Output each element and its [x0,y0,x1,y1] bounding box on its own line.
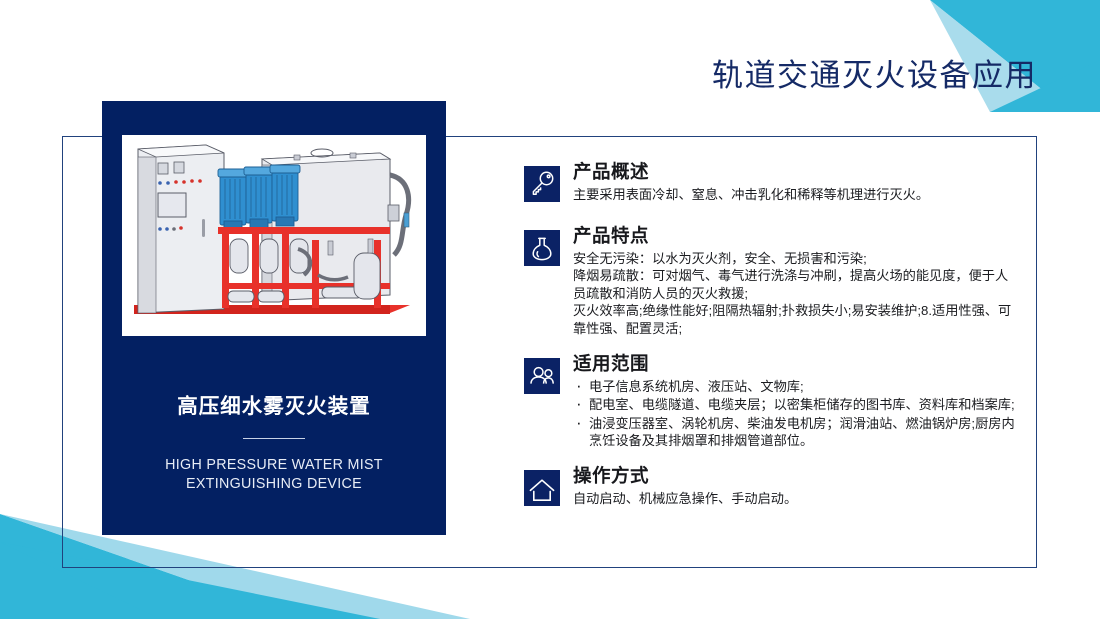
section-paragraph: 灭火效率高;绝缘性能好;阻隔热辐射;扑救损失小;易安装维护;8.适用性强、可靠性… [573,302,1016,337]
flask-icon [524,230,560,266]
section-paragraph: 主要采用表面冷却、窒息、冲击乳化和稀释等机理进行灭火。 [573,186,1016,204]
section-paragraph: 自动启动、机械应急操作、手动启动。 [573,490,1016,508]
section-heading: 适用范围 [573,352,1016,376]
section-features: 产品特点 安全无污染：以水为灭火剂，安全、无损害和污染; 降烟易疏散：可对烟气、… [524,224,1016,338]
product-card: 高压细水雾灭火装置 HIGH PRESSURE WATER MIST EXTIN… [102,101,446,535]
product-name-en-line2: EXTINGUISHING DEVICE [102,475,446,494]
slide: 轨道交通灭火设备应用 [0,0,1100,619]
section-text: 自动启动、机械应急操作、手动启动。 [573,490,1016,508]
home-icon [524,470,560,506]
product-name-en: HIGH PRESSURE WATER MIST EXTINGUISHING D… [102,456,446,494]
people-icon [524,358,560,394]
section-text: 主要采用表面冷却、窒息、冲击乳化和稀释等机理进行灭火。 [573,186,1016,204]
section-bullet-list: 电子信息系统机房、液压站、文物库; 配电室、电缆隧道、电缆夹层；以密集柜储存的图… [573,378,1016,450]
section-heading: 产品概述 [573,160,1016,184]
section-heading: 操作方式 [573,464,1016,488]
content-sections: 产品概述 主要采用表面冷却、窒息、冲击乳化和稀释等机理进行灭火。 产品特点 [524,160,1016,508]
product-photo [122,135,426,336]
section-paragraph: 降烟易疏散：可对烟气、毒气进行洗涤与冲刷，提高火场的能见度，便于人员疏散和消防人… [573,267,1016,302]
section-paragraph: 安全无污染：以水为灭火剂，安全、无损害和污染; [573,250,1016,268]
section-scope: 适用范围 电子信息系统机房、液压站、文物库; 配电室、电缆隧道、电缆夹层；以密集… [524,352,1016,450]
section-operation: 操作方式 自动启动、机械应急操作、手动启动。 [524,464,1016,508]
page-title: 轨道交通灭火设备应用 [712,50,1037,95]
section-heading: 产品特点 [573,224,1016,248]
product-name-cn: 高压细水雾灭火装置 [102,389,446,419]
key-icon [524,166,560,202]
list-item: 油浸变压器室、涡轮机房、柴油发电机房；润滑油站、燃油锅炉房;厨房内烹饪设备及其排… [573,415,1016,450]
section-overview: 产品概述 主要采用表面冷却、窒息、冲击乳化和稀释等机理进行灭火。 [524,160,1016,204]
section-text: 安全无污染：以水为灭火剂，安全、无损害和污染; 降烟易疏散：可对烟气、毒气进行洗… [573,250,1016,338]
product-name-en-line1: HIGH PRESSURE WATER MIST [102,456,446,475]
product-divider [243,438,305,439]
list-item: 配电室、电缆隧道、电缆夹层；以密集柜储存的图书库、资料库和档案库; [573,396,1016,414]
list-item: 电子信息系统机房、液压站、文物库; [573,378,1016,396]
